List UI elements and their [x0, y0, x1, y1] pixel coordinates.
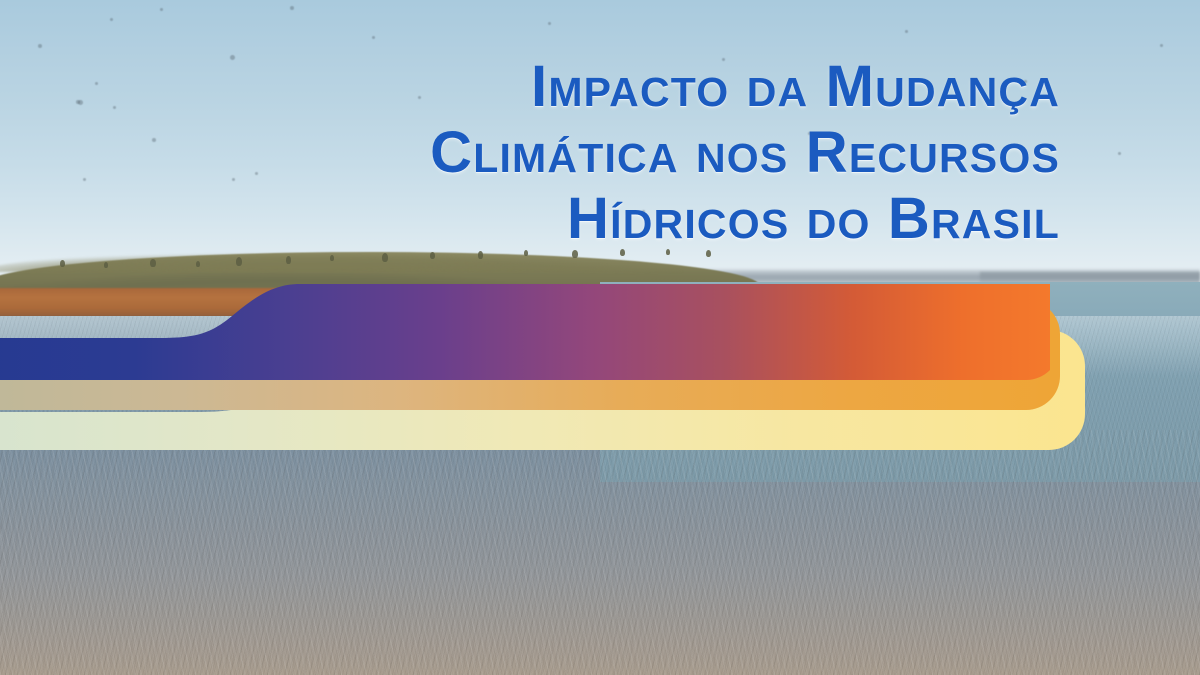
crest-tree — [478, 251, 483, 259]
crest-tree — [430, 252, 435, 259]
sky-speck — [290, 6, 294, 10]
title-line-2: Climática nos Recursos — [0, 120, 1060, 186]
crest-tree — [150, 259, 156, 267]
sky-speck — [110, 18, 113, 21]
crest-tree — [330, 255, 334, 261]
sky-speck — [905, 30, 908, 33]
sky-speck — [1160, 44, 1163, 47]
sky-speck — [38, 44, 42, 48]
sky-speck — [1118, 152, 1121, 155]
crest-tree — [60, 260, 65, 267]
crest-tree — [196, 261, 200, 267]
crest-tree — [286, 256, 291, 264]
page-title: Impacto da Mudança Climática nos Recurso… — [0, 54, 1060, 252]
water-ripples-foreground — [0, 430, 1200, 675]
sky-speck — [548, 22, 551, 25]
crest-tree — [382, 253, 388, 262]
crest-tree — [104, 262, 108, 268]
sky-speck — [372, 36, 375, 39]
crest-tree — [236, 257, 242, 266]
sky-speck — [160, 8, 163, 11]
title-line-3: Hídricos do Brasil — [0, 186, 1060, 252]
title-line-1: Impacto da Mudança — [0, 54, 1060, 120]
title-slide: Impacto da Mudança Climática nos Recurso… — [0, 0, 1200, 675]
